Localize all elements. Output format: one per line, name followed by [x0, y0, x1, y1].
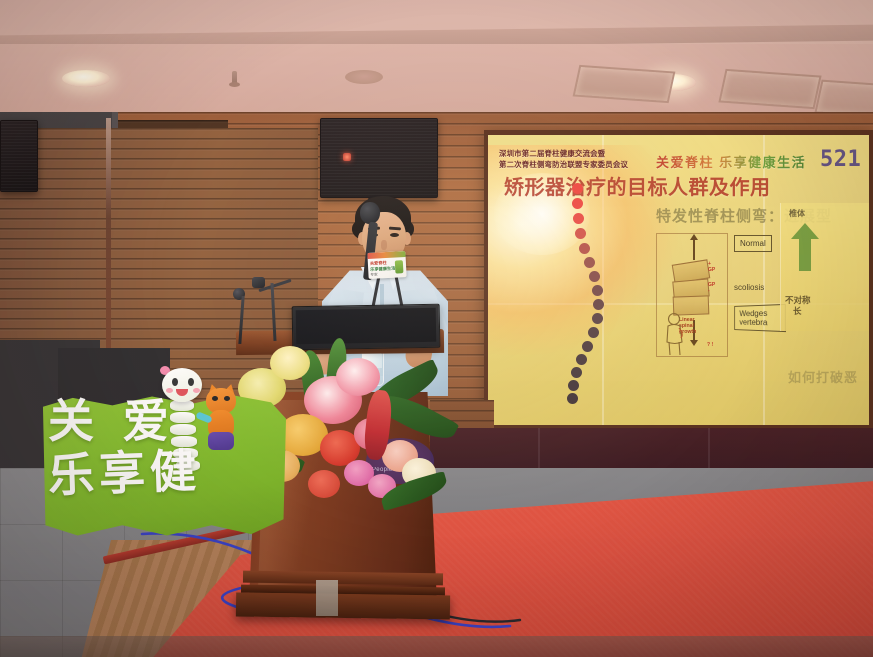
spine-marker-dot — [582, 341, 593, 352]
spine-marker-dot — [584, 257, 595, 268]
podium-floor-plate — [316, 580, 338, 616]
badge-graphic — [395, 260, 404, 273]
label-vertebra: vertebra — [739, 318, 767, 327]
label-normal: Normal — [734, 235, 772, 252]
nose — [381, 240, 387, 250]
cat-eye — [224, 396, 230, 401]
spine-marker-dot — [579, 243, 590, 254]
slide-right-panel: 椎体 不对称 长 — [780, 203, 869, 331]
marker-gp-top: GP — [708, 267, 715, 273]
spine-marker-dot — [589, 271, 600, 282]
spine-growth-diagram: + GP GP - Linear spinal growth ? ! — [656, 233, 728, 357]
speaker-power-led-icon — [343, 153, 351, 161]
mascot-eye — [172, 378, 178, 386]
downlight-icon — [62, 70, 110, 87]
spine-marker-dot — [593, 299, 604, 310]
panel-light-icon — [573, 65, 676, 103]
badge-line-3: 专家 — [370, 273, 377, 278]
cat-eye — [212, 396, 218, 401]
label-wedges-vertebra: Wedges vertebra — [734, 304, 786, 332]
growth-arrow-up-icon — [693, 238, 695, 260]
label-wedges: Wedges — [739, 309, 767, 318]
right-panel-caption: 不对称 长 — [785, 295, 811, 318]
name-badge: 关爱脊柱 乐享健康生活 专家 — [367, 251, 406, 279]
sign-text-line-2: 乐享健 — [47, 447, 202, 498]
right-panel-caption-line-1: 不对称 — [785, 295, 811, 306]
projection-screen-area: 深圳市第二届脊柱健康交流会暨 第二次脊柱侧弯防治联盟专家委员会议 关爱脊柱 乐享… — [484, 130, 873, 430]
spine-marker-dot — [572, 198, 583, 209]
spine-marker-dot — [568, 380, 579, 391]
stage-front-shadow — [0, 636, 873, 657]
mascot-eye — [188, 378, 194, 386]
mascot-cheek — [193, 388, 200, 393]
flower-cream — [270, 346, 310, 380]
speaker-grille — [1, 121, 37, 191]
gooseneck-microphone-head — [252, 277, 265, 288]
sprinkler-head-icon — [232, 71, 237, 85]
panel-light-icon — [718, 69, 821, 109]
spine-marker-dot — [576, 354, 587, 365]
ceiling — [0, 0, 873, 128]
campaign-tagline: 关爱脊柱 乐享健康生活 — [656, 152, 806, 171]
green-up-arrow-icon — [799, 237, 811, 271]
spine-marker-dot — [567, 393, 578, 404]
right-panel-caption-line-2: 长 — [785, 306, 811, 317]
podium-base — [236, 593, 450, 620]
flower-pink-lily — [336, 358, 380, 396]
marker-minus: - — [708, 288, 710, 294]
flower-red — [308, 470, 340, 498]
spine-marker-dot — [592, 313, 603, 324]
slide-title: 矫形器治疗的目标人群及作用 — [504, 171, 771, 200]
spine-marker-dot — [592, 285, 603, 296]
speaker-grille — [321, 119, 437, 197]
wall-speaker — [320, 118, 438, 198]
campaign-number: 521 — [820, 147, 861, 172]
spine-marker-dot — [588, 327, 599, 338]
recessed-light-icon — [345, 70, 383, 84]
label-scoliosis: scoliosis — [734, 283, 764, 292]
badge-header-bar — [367, 251, 405, 259]
patient-figure-icon — [663, 312, 689, 356]
mascot-cheek — [166, 388, 173, 393]
handheld-microphone-head — [360, 202, 380, 224]
right-panel-heading: 椎体 — [789, 208, 805, 219]
spine-marker-dot — [575, 228, 586, 239]
projection-screen: 深圳市第二届脊柱健康交流会暨 第二次脊柱侧弯防治联盟专家委员会议 关爱脊柱 乐享… — [488, 135, 869, 425]
eye — [390, 233, 399, 237]
marker-query: ? ! — [707, 342, 713, 348]
spine-marker-dot — [572, 183, 583, 194]
wall-speaker — [0, 120, 38, 192]
slide-bottom-question: 如何打破恶 — [788, 367, 858, 386]
conference-hall-photo: 深圳市第二届脊柱健康交流会暨 第二次脊柱侧弯防治联盟专家委员会议 关爱脊柱 乐享… — [0, 0, 873, 657]
sign-text-line-1: 关 爱 — [48, 398, 177, 444]
orange-cat-pants — [208, 432, 234, 450]
spine-marker-dot — [573, 213, 584, 224]
patient-figure-svg — [663, 312, 689, 356]
spine-marker-dot — [571, 367, 582, 378]
